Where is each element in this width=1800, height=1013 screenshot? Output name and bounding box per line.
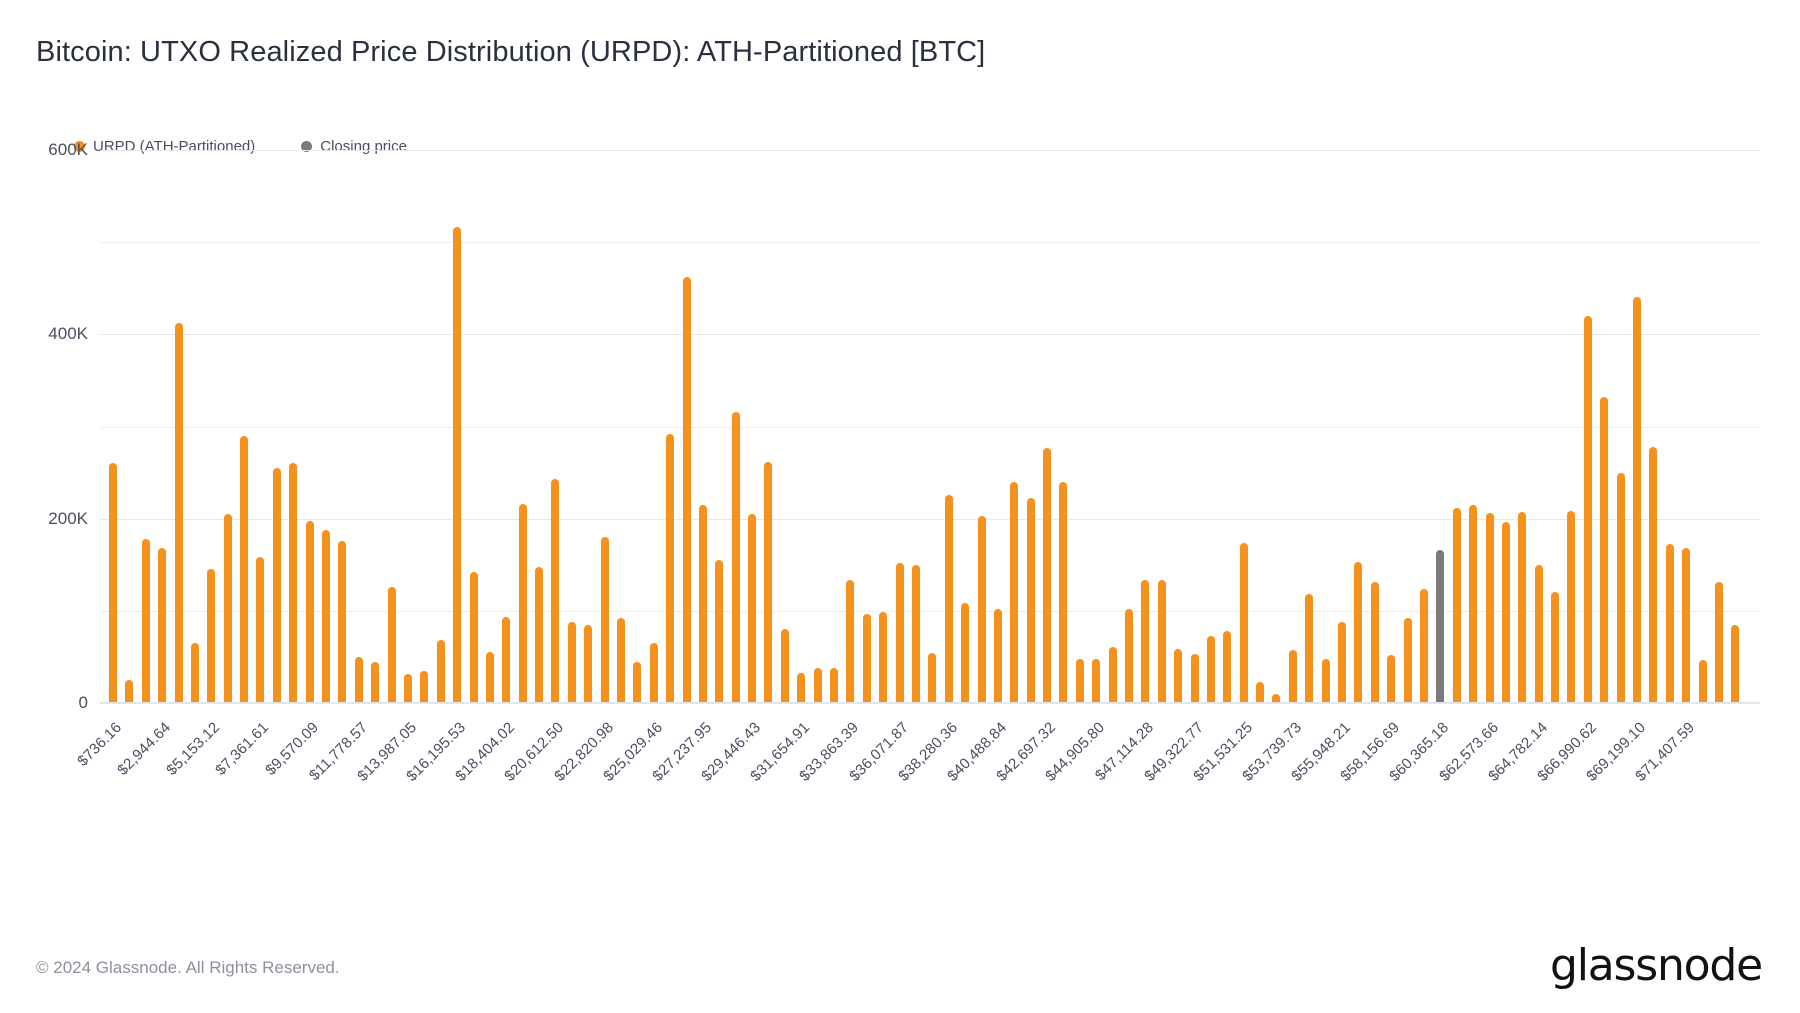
bar[interactable] [551,479,559,703]
bar[interactable] [961,603,969,703]
bar[interactable] [207,569,215,703]
bar[interactable] [1043,448,1051,703]
bar[interactable] [715,560,723,703]
bar[interactable] [797,673,805,703]
bar[interactable] [1502,522,1510,703]
bar[interactable] [1174,649,1182,703]
bar[interactable] [1453,508,1461,703]
bar-closing-price[interactable] [1436,550,1444,703]
bar[interactable] [404,674,412,703]
bar[interactable] [1059,482,1067,703]
bar[interactable] [978,516,986,703]
bar[interactable] [732,412,740,703]
bar[interactable] [1699,660,1707,703]
bar[interactable] [896,563,904,703]
bar[interactable] [1387,655,1395,703]
bar[interactable] [994,609,1002,703]
page-title: Bitcoin: UTXO Realized Price Distributio… [36,36,985,69]
bar[interactable] [1617,473,1625,703]
bar[interactable] [1469,505,1477,703]
bar[interactable] [1600,397,1608,703]
bar[interactable] [371,662,379,703]
bar[interactable] [764,462,772,703]
bar[interactable] [338,541,346,703]
y-axis: 0200K400K600K [0,150,100,703]
bar[interactable] [1141,580,1149,703]
bar[interactable] [699,505,707,703]
bar[interactable] [1027,498,1035,703]
bar[interactable] [1486,513,1494,703]
bar[interactable] [502,617,510,703]
bar[interactable] [437,640,445,703]
bar[interactable] [125,680,133,703]
bar[interactable] [1010,482,1018,703]
bar[interactable] [1240,543,1248,703]
bar[interactable] [240,436,248,703]
bar[interactable] [928,653,936,703]
x-axis: $736.16$2,944.64$5,153.12$7,361.61$9,570… [100,703,1760,833]
bar[interactable] [1125,609,1133,703]
bar[interactable] [1092,659,1100,703]
bar[interactable] [830,668,838,703]
bar[interactable] [224,514,232,703]
bar[interactable] [191,643,199,703]
bar[interactable] [1371,582,1379,703]
footer-copyright: © 2024 Glassnode. All Rights Reserved. [36,958,340,978]
bar[interactable] [1535,565,1543,703]
bar[interactable] [945,495,953,703]
bar[interactable] [1109,647,1117,703]
bar[interactable] [486,652,494,703]
bar[interactable] [846,580,854,704]
bar-series [100,150,1760,703]
bar[interactable] [1076,659,1084,703]
bar[interactable] [109,463,117,703]
bar[interactable] [1322,659,1330,703]
bar[interactable] [1551,592,1559,703]
bar[interactable] [568,622,576,703]
bar[interactable] [306,521,314,703]
bar[interactable] [322,530,330,703]
bar[interactable] [1420,589,1428,703]
bar[interactable] [1158,580,1166,704]
bar[interactable] [748,514,756,703]
bar[interactable] [1404,618,1412,703]
bar[interactable] [666,434,674,703]
bar[interactable] [1289,650,1297,703]
bar[interactable] [1223,631,1231,703]
bar[interactable] [388,587,396,703]
bar[interactable] [1715,582,1723,703]
bar[interactable] [879,612,887,703]
bar[interactable] [256,557,264,703]
y-axis-tick-label: 400K [48,324,88,344]
bar[interactable] [453,227,461,703]
bar[interactable] [584,625,592,703]
bar[interactable] [617,618,625,703]
bar[interactable] [1682,548,1690,703]
y-axis-tick-label: 0 [79,693,88,713]
bar[interactable] [289,463,297,703]
bar[interactable] [519,504,527,703]
x-axis-tick-label: $7,361.61 [213,719,273,779]
bar[interactable] [1256,682,1264,703]
bar[interactable] [863,614,871,703]
plot-area [100,150,1760,703]
bar[interactable] [175,323,183,703]
bar[interactable] [1191,654,1199,703]
bar[interactable] [1649,447,1657,703]
bar[interactable] [535,567,543,703]
y-axis-tick-label: 200K [48,509,88,529]
bar[interactable] [781,629,789,703]
bar[interactable] [1584,316,1592,703]
bar[interactable] [355,657,363,703]
bar[interactable] [1633,297,1641,703]
bar[interactable] [1666,544,1674,703]
bar[interactable] [1567,511,1575,703]
bar[interactable] [1207,636,1215,703]
bar[interactable] [1731,625,1739,703]
bar[interactable] [470,572,478,703]
bar[interactable] [912,565,920,703]
bar[interactable] [273,468,281,703]
bar[interactable] [814,668,822,703]
bar[interactable] [142,539,150,703]
bar[interactable] [158,548,166,703]
bar[interactable] [1518,512,1526,703]
bar[interactable] [1338,622,1346,703]
bar[interactable] [633,662,641,703]
bar[interactable] [1354,562,1362,703]
bar[interactable] [601,537,609,703]
bar[interactable] [420,671,428,703]
bar[interactable] [650,643,658,703]
brand-logo: glassnode [1550,940,1762,991]
y-axis-tick-label: 600K [48,140,88,160]
bar[interactable] [683,277,691,703]
bar[interactable] [1305,594,1313,703]
